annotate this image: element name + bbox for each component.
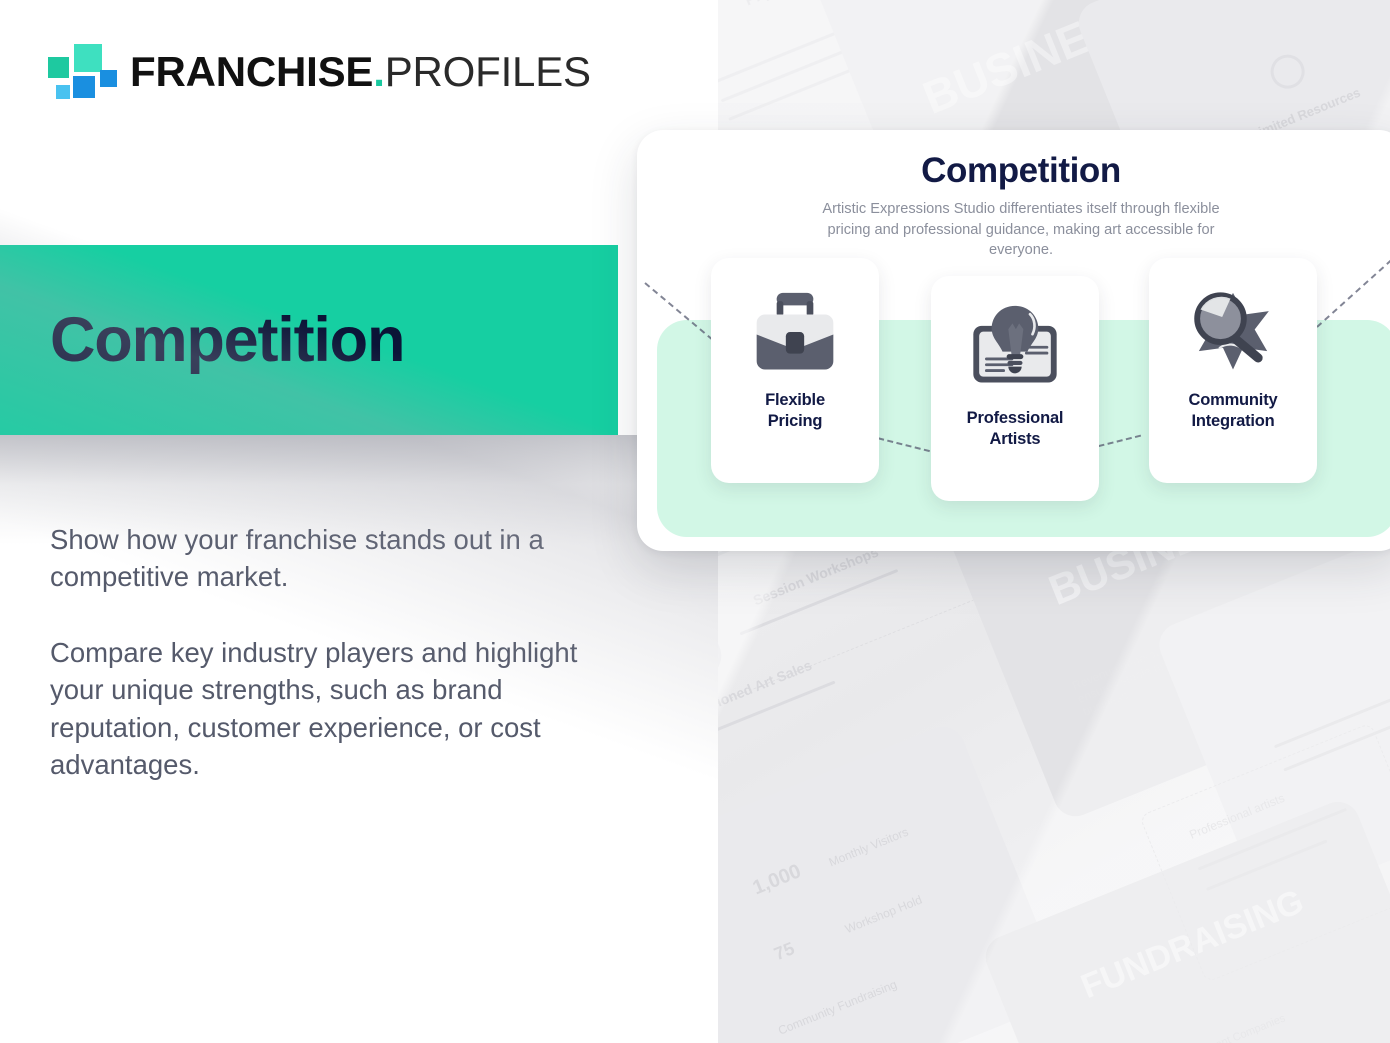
slide-canvas: Physical Fees BUSINESS MODEL Lack of Acc…	[0, 0, 1390, 1043]
feature-label: FlexiblePricing	[757, 390, 833, 431]
brand-name-thin: PROFILES	[385, 48, 591, 95]
magnifier-star-icon	[1181, 284, 1285, 380]
body-paragraph-1: Show how your franchise stands out in a …	[50, 521, 630, 596]
slide-preview-card[interactable]: Competition Artistic Expressions Studio …	[637, 130, 1390, 551]
logo-square-blue-small	[100, 70, 117, 87]
logo-square-blue-light	[56, 85, 70, 99]
preview-subtitle: Artistic Expressions Studio differentiat…	[821, 199, 1221, 261]
body-copy: Show how your franchise stands out in a …	[50, 521, 630, 783]
briefcase-icon	[743, 284, 847, 380]
feature-label-line1: Professional	[967, 409, 1064, 427]
brand-name-bold: FRANCHISE	[130, 48, 373, 95]
lightbulb-card-icon	[963, 302, 1067, 398]
feature-label-line2: Integration	[1191, 412, 1274, 430]
preview-title: Competition	[637, 151, 1390, 191]
logo-square-teal-light	[74, 44, 102, 72]
logo-square-blue	[73, 76, 95, 98]
page-title: Competition	[50, 309, 404, 372]
logo-mark-icon	[48, 44, 108, 100]
feature-label: CommunityIntegration	[1181, 390, 1286, 431]
feature-label-line1: Community	[1189, 391, 1278, 409]
left-content-panel: FRANCHISE.PROFILES Competition Show how …	[0, 0, 718, 1043]
feature-label: ProfessionalArtists	[959, 408, 1072, 449]
logo-square-teal-dark	[48, 57, 69, 78]
feature-label-line1: Flexible	[765, 391, 825, 409]
feature-card-professional-artists[interactable]: ProfessionalArtists	[931, 276, 1099, 501]
brand-wordmark: FRANCHISE.PROFILES	[130, 51, 591, 93]
feature-label-line2: Pricing	[768, 412, 823, 430]
feature-card-flexible-pricing[interactable]: FlexiblePricing	[711, 258, 879, 483]
feature-card-community-integration[interactable]: CommunityIntegration	[1149, 258, 1317, 483]
brand-name-dot: .	[373, 48, 384, 95]
body-paragraph-2: Compare key industry players and highlig…	[50, 634, 630, 784]
section-banner: Competition	[0, 245, 618, 435]
dashed-connector-right	[1316, 259, 1390, 327]
brand-logo[interactable]: FRANCHISE.PROFILES	[48, 44, 591, 100]
feature-label-line2: Artists	[990, 430, 1041, 448]
